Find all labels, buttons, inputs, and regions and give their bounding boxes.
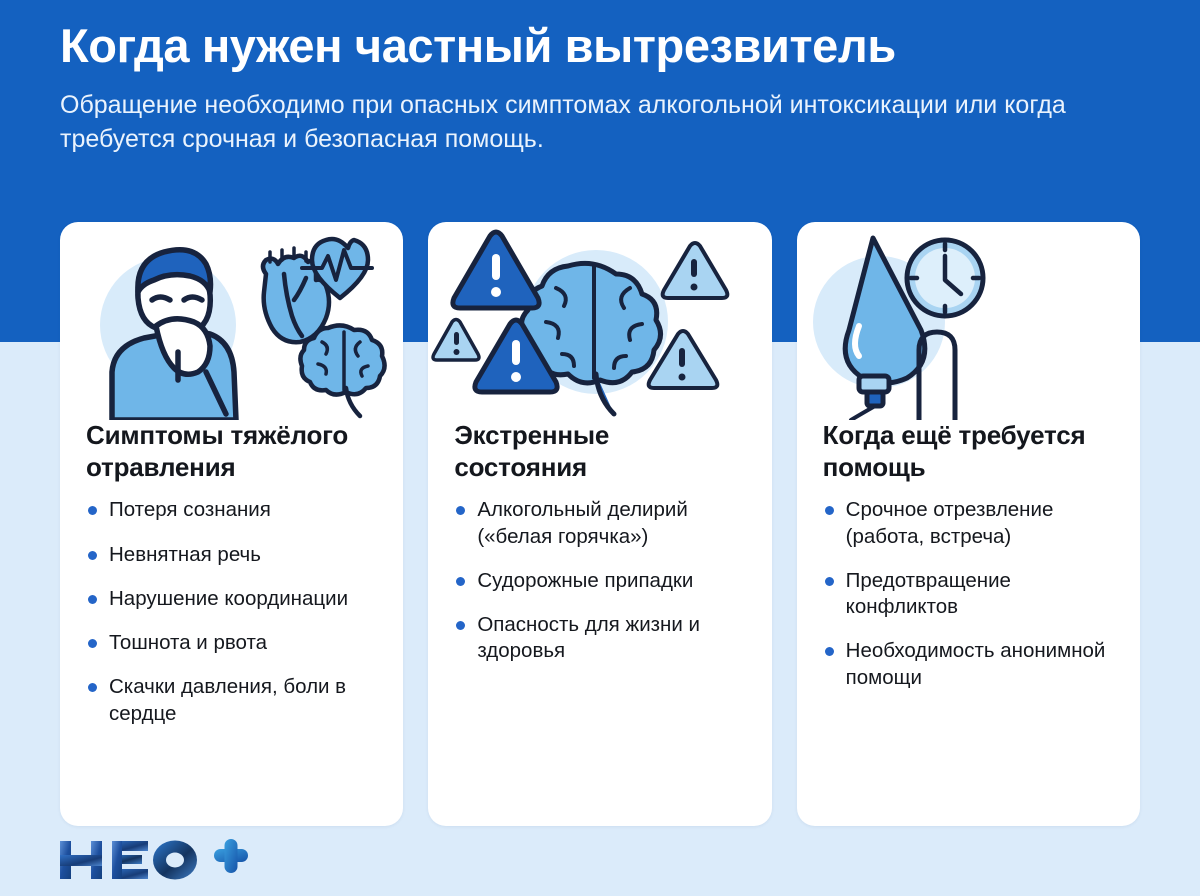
list-item: Судорожные припадки <box>454 568 745 594</box>
bullet-dot-icon <box>88 639 97 648</box>
logo-letter-e <box>112 841 148 879</box>
list-item: Невнятная речь <box>86 542 377 568</box>
bullet-dot-icon <box>88 683 97 692</box>
header: Когда нужен частный вытрезвитель Обращен… <box>60 18 1150 157</box>
card-3-title: Когда ещё требуется помощь <box>823 420 1114 483</box>
list-item-label: Скачки давления, боли в сердце <box>109 675 346 724</box>
bullet-dot-icon <box>456 577 465 586</box>
card-3-body: Когда ещё требуется помощь Срочное отрез… <box>797 420 1140 709</box>
list-item: Опасность для жизни и здоровья <box>454 612 745 664</box>
bullet-dot-icon <box>825 506 834 515</box>
card-3-illustration <box>797 222 1140 420</box>
bullet-dot-icon <box>88 595 97 604</box>
page-title: Когда нужен частный вытрезвитель <box>60 18 1150 73</box>
list-item: Нарушение координации <box>86 586 377 612</box>
list-item-label: Необходимость анонимной помощи <box>846 639 1106 688</box>
list-item: Потеря сознания <box>86 497 377 523</box>
list-item-label: Предотвращение конфликтов <box>846 569 1011 618</box>
warning-triangle-icon <box>453 232 539 308</box>
card-when-else-help: Когда ещё требуется помощь Срочное отрез… <box>797 222 1140 826</box>
logo-plus-icon <box>214 839 248 873</box>
card-2-title: Экстренные состояния <box>454 420 745 483</box>
list-item-label: Потеря сознания <box>109 498 271 521</box>
bullet-dot-icon <box>88 551 97 560</box>
list-item-label: Тошнота и рвота <box>109 631 267 654</box>
list-item-label: Невнятная речь <box>109 543 261 566</box>
card-1-body: Симптомы тяжёлого отравления Потеря созн… <box>60 420 403 745</box>
warning-triangle-icon <box>433 320 479 361</box>
list-item-label: Срочное отрезвление (работа, встреча) <box>846 498 1054 547</box>
card-1-illustration <box>60 222 403 420</box>
page-subtitle: Обращение необходимо при опасных симптом… <box>60 89 1070 157</box>
clock-icon <box>907 240 983 316</box>
card-1-title: Симптомы тяжёлого отравления <box>86 420 377 483</box>
logo-letter-o <box>153 841 197 880</box>
list-item-label: Судорожные припадки <box>477 569 693 592</box>
card-3-bullet-list: Срочное отрезвление (работа, встреча) Пр… <box>823 497 1114 690</box>
brain-icon <box>300 325 384 416</box>
card-2-bullet-list: Алкогольный делирий («белая горячка») Су… <box>454 497 745 664</box>
list-item: Тошнота и рвота <box>86 630 377 656</box>
list-item-label: Опасность для жизни и здоровья <box>477 613 700 662</box>
bullet-dot-icon <box>456 506 465 515</box>
list-item-label: Нарушение координации <box>109 587 348 610</box>
card-2-body: Экстренные состояния Алкогольный делирий… <box>428 420 771 683</box>
list-item: Срочное отрезвление (работа, встреча) <box>823 497 1114 549</box>
card-severe-poisoning: Симптомы тяжёлого отравления Потеря созн… <box>60 222 403 826</box>
card-2-illustration <box>428 222 771 420</box>
list-item: Необходимость анонимной помощи <box>823 638 1114 690</box>
infographic-page: Когда нужен частный вытрезвитель Обращен… <box>0 0 1200 896</box>
cards-row: Симптомы тяжёлого отравления Потеря созн… <box>60 222 1140 826</box>
bullet-dot-icon <box>456 621 465 630</box>
logo-letter-n <box>60 841 102 879</box>
card-emergency-states: Экстренные состояния Алкогольный делирий… <box>428 222 771 826</box>
bullet-dot-icon <box>825 647 834 656</box>
warning-triangle-icon <box>663 243 728 298</box>
list-item-label: Алкогольный делирий («белая горячка») <box>477 498 687 547</box>
list-item: Предотвращение конфликтов <box>823 568 1114 620</box>
card-1-bullet-list: Потеря сознания Невнятная речь Нарушение… <box>86 497 377 726</box>
list-item: Алкогольный делирий («белая горячка») <box>454 497 745 549</box>
list-item: Скачки давления, боли в сердце <box>86 674 377 726</box>
neo-plus-logo <box>58 838 248 882</box>
bullet-dot-icon <box>825 577 834 586</box>
bullet-dot-icon <box>88 506 97 515</box>
